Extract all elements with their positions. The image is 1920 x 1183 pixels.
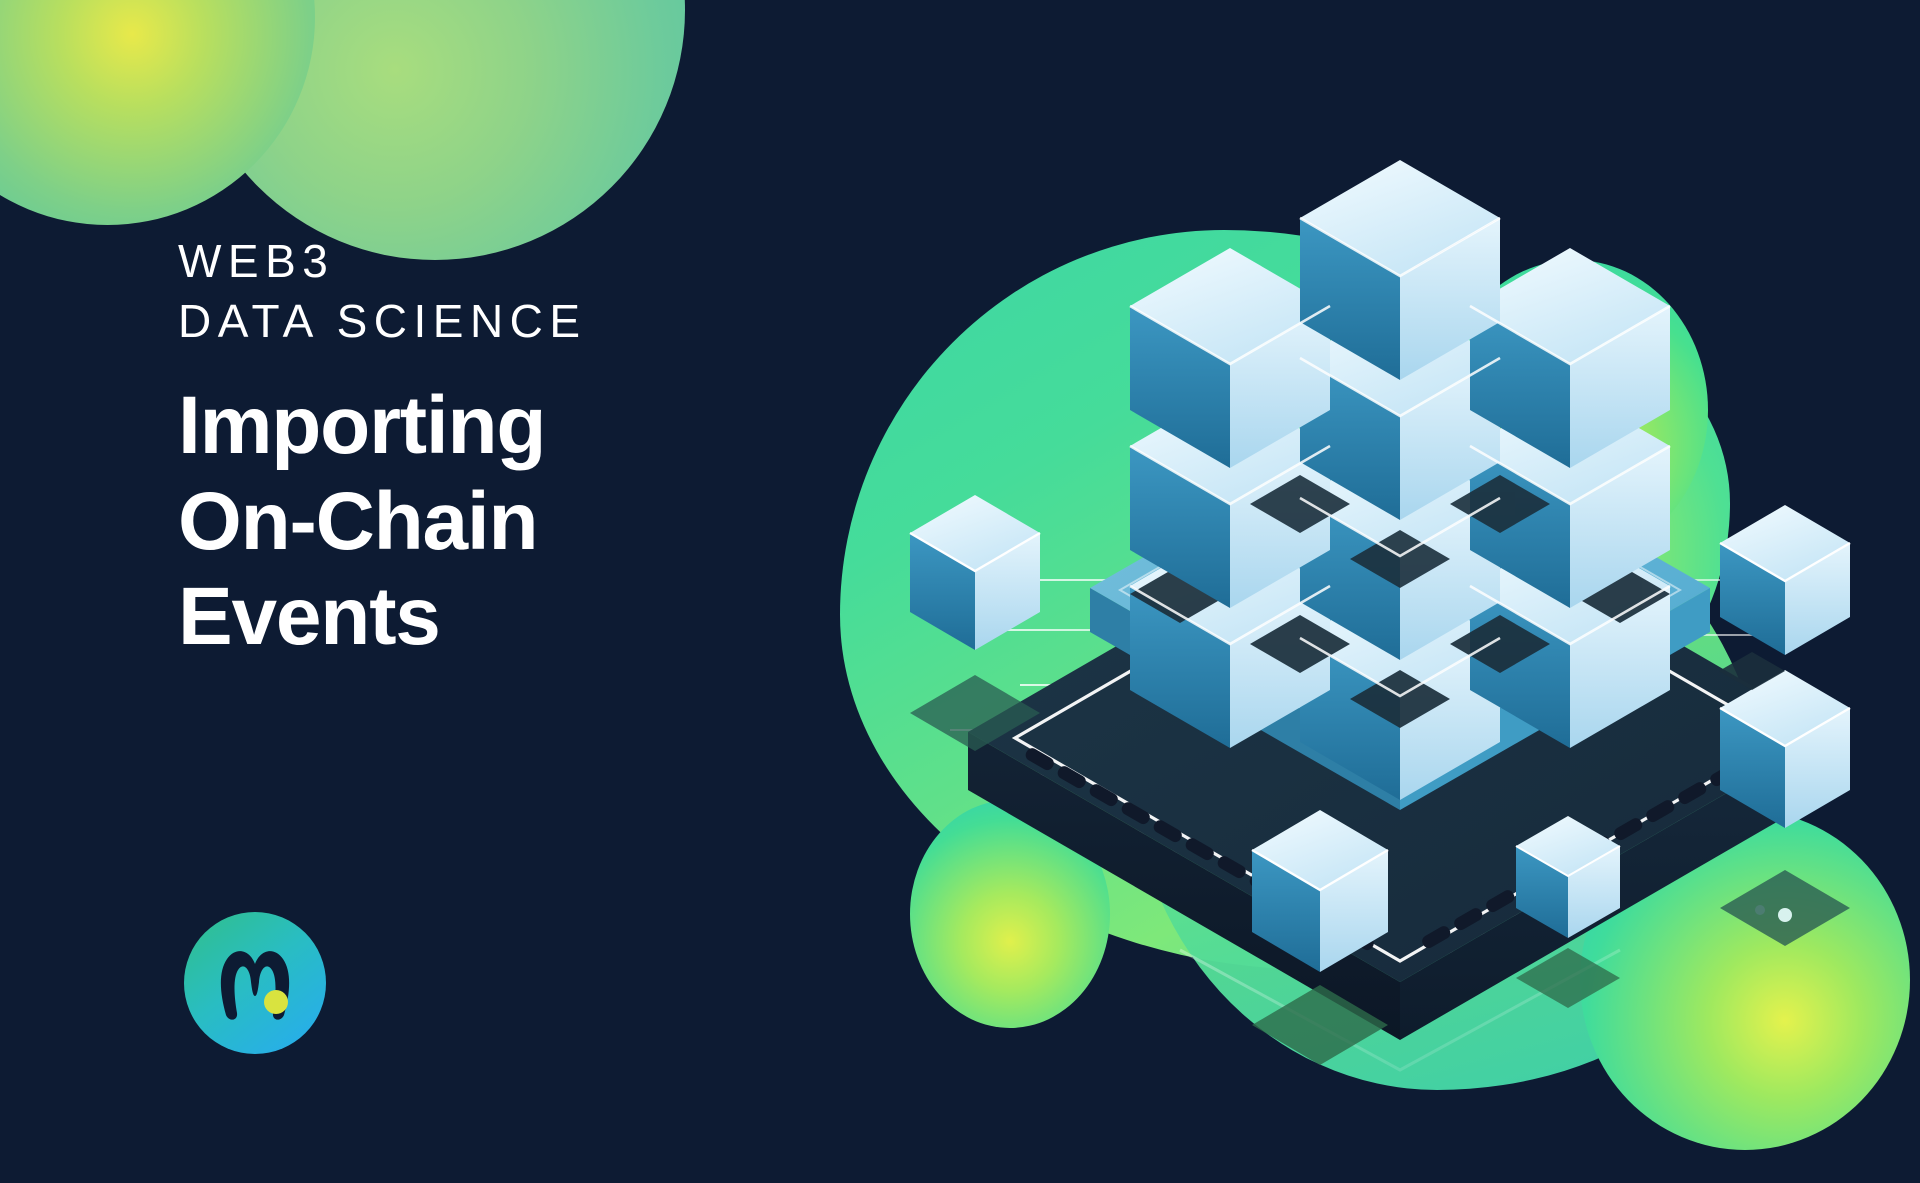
copy-block: WEB3 DATA SCIENCE Importing On-Chain Eve… (178, 232, 838, 665)
chip-and-cubes (880, 110, 1920, 1183)
banner-canvas: WEB3 DATA SCIENCE Importing On-Chain Eve… (0, 0, 1920, 1183)
floating-cube-bottom (1252, 810, 1388, 1065)
floating-cube-left (910, 495, 1040, 751)
page-title: Importing On-Chain Events (178, 378, 838, 666)
blockchain-cube-cluster (1130, 160, 1670, 800)
headline-line-2: On-Chain (178, 474, 838, 570)
eyebrow-line-1: WEB3 (178, 232, 838, 292)
eyebrow-line-2: DATA SCIENCE (178, 292, 838, 352)
floating-cube-lower-right (1516, 816, 1620, 1008)
floating-cube-stack-right (1719, 505, 1850, 946)
moralis-m-logo[interactable] (182, 910, 328, 1056)
headline-line-1: Importing (178, 378, 838, 474)
isometric-blockchain-illustration (880, 110, 1920, 1183)
headline-line-3: Events (178, 569, 838, 665)
logo-accent-dot (264, 990, 288, 1014)
corner-blob-large (185, 0, 685, 260)
corner-blob-small (0, 0, 315, 225)
